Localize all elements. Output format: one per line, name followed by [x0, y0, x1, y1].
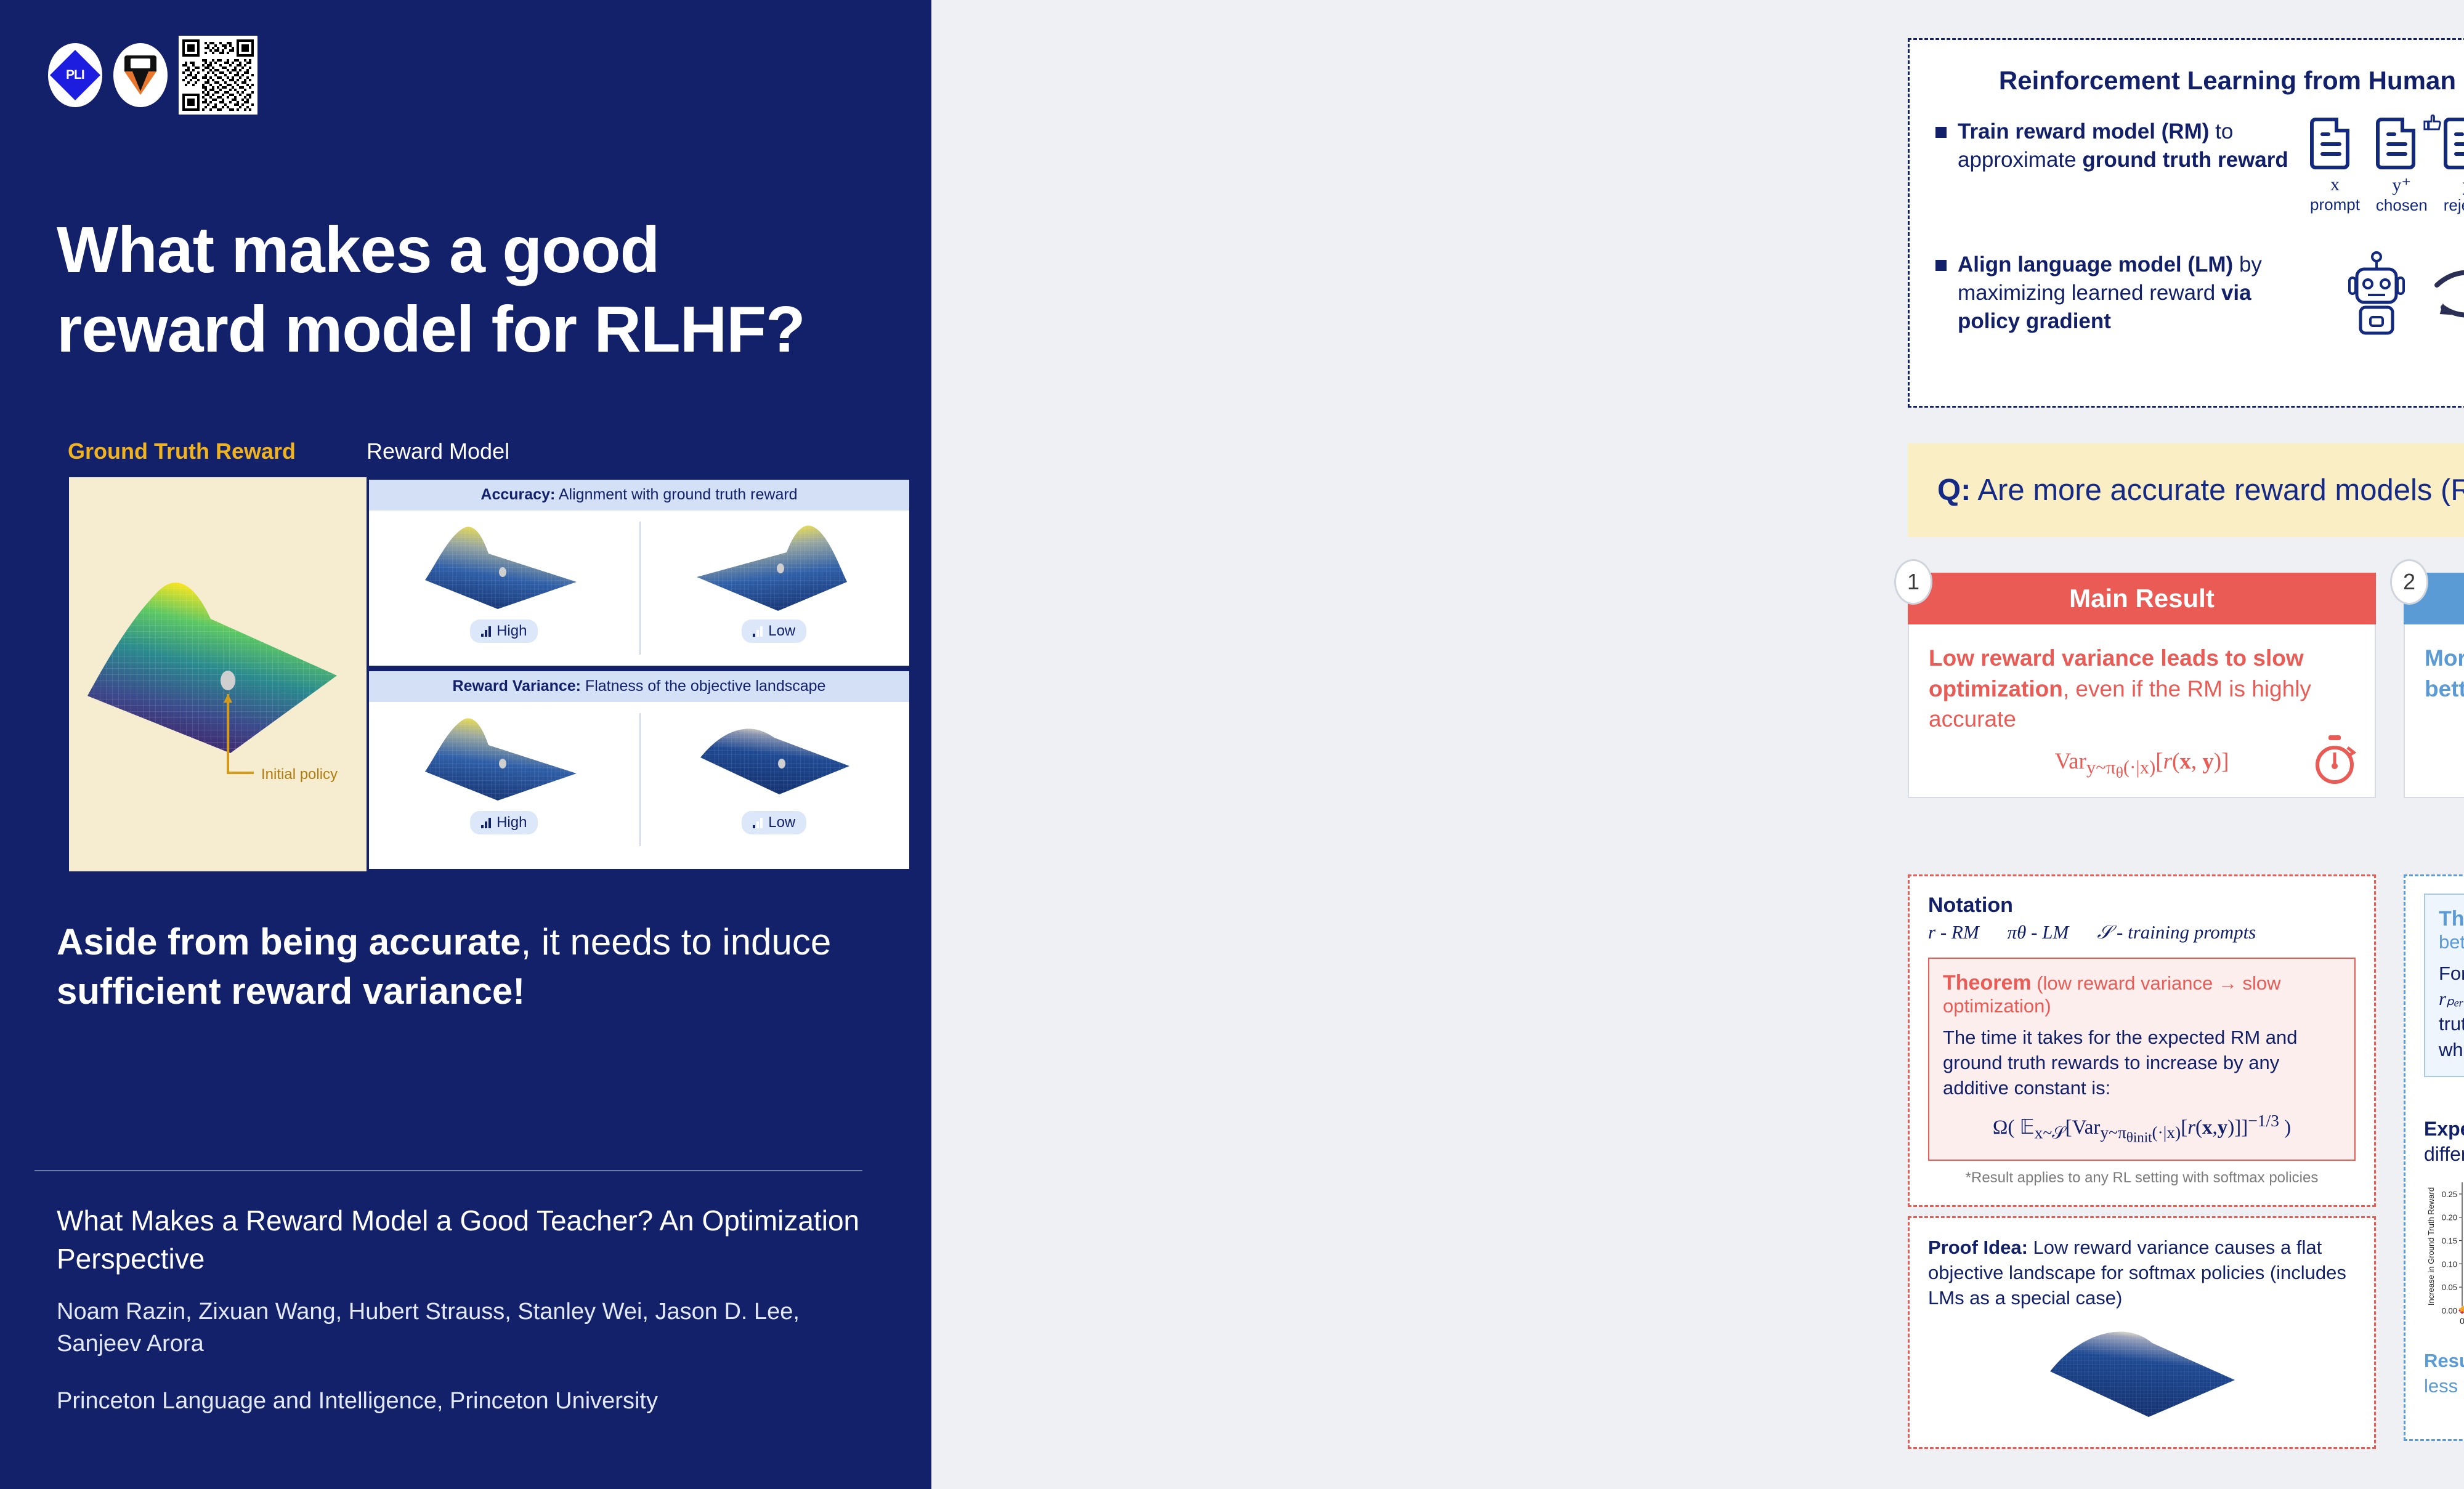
- accuracy-low-badge-label: Low: [768, 623, 795, 640]
- svg-text:0.00: 0.00: [2442, 1306, 2457, 1315]
- accuracy-high-badge-label: High: [496, 623, 527, 640]
- doc-y-minus-sub: rejected: [2444, 196, 2464, 215]
- notation-item-0: r - RM: [1928, 921, 1979, 944]
- panel-2: Theorem (more accurate RMs are not alway…: [2404, 874, 2464, 1441]
- bars-low-icon-2: [753, 817, 763, 828]
- tagline-bold-1: Aside from being accurate: [57, 921, 521, 962]
- bullet-square-icon: [1935, 127, 1947, 138]
- rlhf-box: Reinforcement Learning from Human Feedba…: [1908, 38, 2464, 408]
- column-2-lead-bold: More accurate RMs are not necessarily be…: [2425, 645, 2464, 701]
- variance-high-badge: High: [470, 811, 538, 834]
- theorem-2-box: Theorem (more accurate RMs are not alway…: [2424, 894, 2464, 1077]
- thm2-t1: For any LM, there exist a: [2439, 962, 2464, 984]
- column-1-header: Main Result: [1908, 573, 2376, 624]
- princeton-shield-logo: [113, 43, 168, 107]
- column-1: 1 Main Result Low reward variance leads …: [1908, 573, 2376, 798]
- pli-logo: PLI: [48, 43, 102, 107]
- accuracy-high-cell: High: [369, 510, 639, 666]
- rlhf-bullet-1-b2: ground truth reward: [2082, 148, 2288, 172]
- rlhf-bullet-2-b1: Align language model (LM): [1958, 252, 2233, 276]
- panel-1-theory: Notation r - RM πθ - LM 𝒮 - training pro…: [1908, 874, 2376, 1207]
- variance-low-cell: Low: [639, 702, 910, 857]
- variance-low-surface: [688, 707, 861, 809]
- accuracy-low-surface: [688, 515, 861, 617]
- svg-text:0.05: 0.05: [2442, 1283, 2457, 1292]
- page-title: What makes a good reward model for RLHF?: [57, 211, 876, 370]
- accuracy-low-badge: Low: [742, 619, 806, 643]
- notation-item-1: πθ - LM: [2008, 921, 2069, 944]
- variance-section-header-rest: Flatness of the objective landscape: [581, 677, 825, 695]
- variance-low-badge-label: Low: [768, 814, 795, 831]
- variance-section-header-bold: Reward Variance:: [453, 677, 581, 695]
- bars-high-icon-2: [481, 817, 491, 828]
- doc-x-symbol: x: [2310, 174, 2360, 195]
- variance-low-badge: Low: [742, 811, 806, 834]
- doc-y-plus-symbol: y⁺: [2376, 174, 2428, 196]
- divider: [34, 1170, 862, 1171]
- svg-text:0: 0: [2460, 1316, 2464, 1326]
- svg-text:Increase in Ground Truth Rewar: Increase in Ground Truth Reward: [2426, 1187, 2436, 1305]
- reward-model-label: Reward Model: [367, 438, 509, 464]
- theorem-1-body: The time it takes for the expected RM an…: [1943, 1025, 2341, 1101]
- author-list: Noam Razin, Zixuan Wang, Hubert Strauss,…: [57, 1296, 870, 1360]
- accuracy-section-header: Accuracy: Alignment with ground truth re…: [369, 480, 909, 510]
- robot-icon: [2341, 251, 2412, 337]
- question-banner: Q: Are more accurate reward models (RMs)…: [1908, 443, 2464, 537]
- thumbs-up-icon: [2423, 113, 2444, 134]
- column-1-number: 1: [1894, 559, 1932, 605]
- variance-high-badge-label: High: [496, 814, 527, 831]
- variance-high-surface: [418, 707, 590, 809]
- column-2: 2 Implication I More accurate RMs are no…: [2404, 573, 2464, 798]
- flat-landscape-surface: [2040, 1323, 2243, 1422]
- panel-1-proof: Proof Idea: Low reward variance causes a…: [1908, 1216, 2376, 1449]
- left-panel: PLI: [0, 0, 931, 1489]
- pli-logo-text: PLI: [66, 68, 84, 83]
- bars-high-icon: [481, 626, 491, 637]
- tagline-middle: , it needs to induce: [521, 921, 832, 962]
- column-2-number: 2: [2390, 559, 2428, 605]
- proof-idea-label: Proof Idea:: [1928, 1237, 2028, 1258]
- line-chart-rms: 0.000.050.100.150.200.250123456EpochIncr…: [2424, 1174, 2464, 1340]
- initial-policy-label: Initial policy: [261, 766, 338, 783]
- doc-y-minus-symbol: y⁻: [2444, 174, 2464, 196]
- ground-truth-reward-label: Ground Truth Reward: [68, 438, 296, 464]
- theorem-2-label: Theorem: [2439, 907, 2464, 930]
- column-1-body: Low reward variance leads to slow optimi…: [1908, 624, 2376, 798]
- column-2-body: More accurate RMs are not necessarily be…: [2404, 624, 2464, 798]
- doc-y-plus: y⁺ chosen: [2376, 118, 2428, 215]
- column-1-formula: Vary~πθ(·|x)[r(x, y)]: [1929, 748, 2355, 783]
- theorem-1-formula: Ω( 𝔼x~𝒮[Vary~πθinit(·|x)[r(x,y)]]−1/3 ): [1943, 1111, 2341, 1146]
- ground-truth-surface-plot: Initial policy: [69, 477, 377, 871]
- variance-high-cell: High: [369, 702, 639, 857]
- line-chart-svg: 0.000.050.100.150.200.250123456EpochIncr…: [2424, 1174, 2464, 1340]
- svg-text:0.10: 0.10: [2442, 1259, 2457, 1269]
- svg-text:0.25: 0.25: [2442, 1190, 2457, 1199]
- doc-x: x prompt: [2310, 118, 2360, 214]
- variance-section-header: Reward Variance: Flatness of the objecti…: [369, 671, 909, 702]
- thm2-t4: when using: [2439, 1039, 2464, 1060]
- accuracy-low-cell: Low: [639, 510, 910, 666]
- reward-model-card: Accuracy: Alignment with ground truth re…: [367, 477, 912, 871]
- cycle-arrows-icon: [2431, 264, 2464, 323]
- affiliation: Princeton Language and Intelligence, Pri…: [57, 1388, 870, 1414]
- theorem-2-body: For any LM, there exist a perfectly accu…: [2439, 961, 2464, 1062]
- qr-code-icon[interactable]: [179, 36, 257, 115]
- ground-truth-surface-card: Initial policy: [69, 477, 377, 871]
- variance-section-body: High Low: [369, 702, 909, 857]
- tagline: Aside from being accurate, it needs to i…: [57, 918, 882, 1016]
- accuracy-high-badge: High: [470, 619, 538, 643]
- bars-low-icon: [753, 626, 763, 637]
- rlhf-bullet-2: Align language model (LM) by maximizing …: [1935, 251, 2304, 336]
- bullet-square-icon-2: [1935, 260, 1947, 271]
- panel-2-exp-label: Experiments:: [2424, 1118, 2464, 1140]
- accuracy-high-surface: [418, 515, 590, 617]
- rlhf-title: Reinforcement Learning from Human Feedba…: [1910, 66, 2464, 95]
- panel-2-experiments-header: Experiments: RLHF on UltraFeedback using…: [2424, 1116, 2464, 1168]
- accuracy-section-body: High Low: [369, 510, 909, 666]
- question-text: Are more accurate reward models (RMs) ne…: [1971, 474, 2464, 507]
- accuracy-section-header-rest: Alignment with ground truth reward: [555, 486, 797, 503]
- notation-item-2: 𝒮 - training prompts: [2097, 921, 2256, 944]
- doc-y-minus: y⁻ rejected: [2444, 118, 2464, 215]
- thm2-m1: rₚₑᵣ: [2439, 988, 2464, 1009]
- svg-text:0.15: 0.15: [2442, 1237, 2457, 1246]
- logo-row: PLI: [48, 36, 257, 115]
- panel-2-footnote: *Same result holds with almost any accur…: [2424, 1086, 2464, 1103]
- right-panel: Reinforcement Learning from Human Feedba…: [931, 0, 2464, 1489]
- poster-root: PLI: [0, 0, 2464, 1489]
- notation-title: Notation: [1928, 894, 2356, 918]
- accuracy-section-header-bold: Accuracy:: [480, 486, 555, 503]
- rlhf-bullet-1-b1: Train reward model (RM): [1958, 119, 2209, 143]
- paper-title: What Makes a Reward Model a Good Teacher…: [57, 1202, 870, 1278]
- theorem-1-box: Theorem (low reward variance → slow opti…: [1928, 958, 2356, 1161]
- tagline-bold-2: sufficient reward variance!: [57, 970, 525, 1012]
- panel-2-result: Result: Even perfectly acc RMs can under…: [2424, 1349, 2464, 1399]
- panel-2-result-label: Result:: [2424, 1350, 2464, 1371]
- rlhf-bullet-1: Train reward model (RM) to approximate g…: [1935, 118, 2304, 174]
- svg-text:0.20: 0.20: [2442, 1213, 2457, 1222]
- doc-y-plus-sub: chosen: [2376, 196, 2428, 215]
- doc-x-sub: prompt: [2310, 195, 2360, 214]
- notation-items: r - RM πθ - LM 𝒮 - training prompts: [1928, 921, 2356, 944]
- panel-1-footnote: *Result applies to any RL setting with s…: [1928, 1169, 2356, 1187]
- theorem-1-label: Theorem: [1943, 971, 2032, 995]
- question-prefix: Q:: [1937, 474, 1971, 507]
- stopwatch-icon: [2311, 734, 2359, 786]
